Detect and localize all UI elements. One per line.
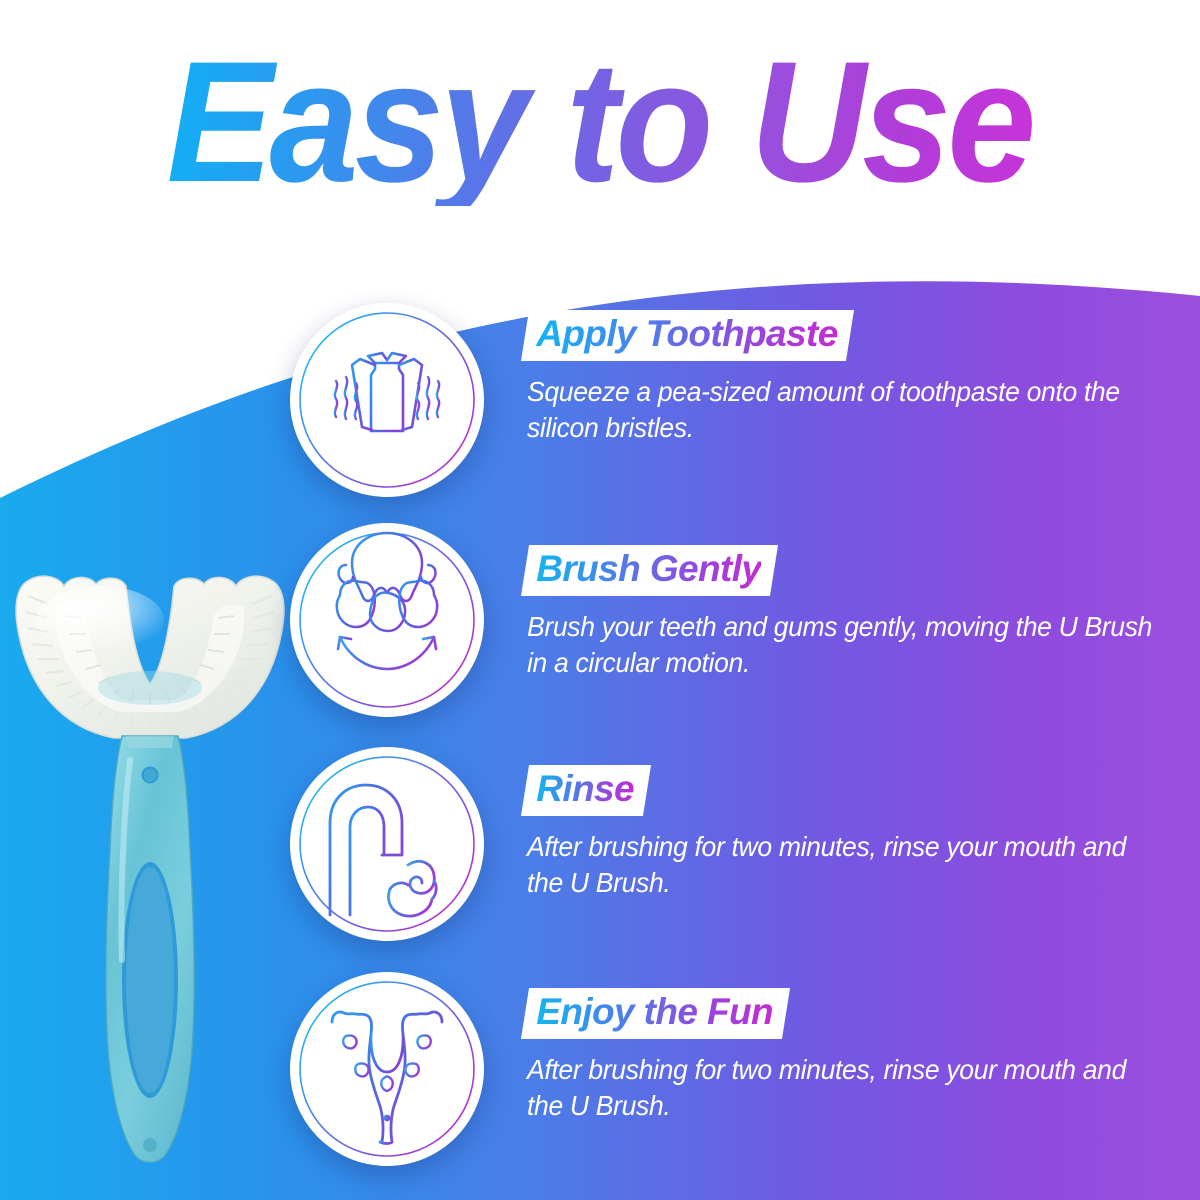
teeth-circular-motion-icon [290, 523, 484, 717]
circle-ring [300, 313, 474, 487]
circle-ring [300, 982, 474, 1156]
product-image-u-brush [4, 560, 294, 1170]
toothpaste-tube-icon [290, 303, 484, 497]
step-2-heading: Brush Gently [536, 548, 761, 590]
step-4-heading-box: Enjoy the Fun [521, 988, 790, 1039]
step-3-text: Rinse After brushing for two minutes, ri… [527, 765, 1187, 902]
step-1-text: Apply Toothpaste Squeeze a pea-sized amo… [527, 310, 1187, 447]
step-3-icon-circle[interactable] [290, 747, 484, 941]
circle-ring [300, 533, 474, 707]
step-2-icon-circle[interactable] [290, 523, 484, 717]
step-1-icon-circle[interactable] [290, 303, 484, 497]
step-2-text: Brush Gently Brush your teeth and gums g… [527, 545, 1187, 682]
step-3-body: After brushing for two minutes, rinse yo… [527, 829, 1164, 902]
step-2-heading-box: Brush Gently [521, 545, 778, 596]
step-4-icon-circle[interactable] [290, 972, 484, 1166]
handle-bottom-dimple [143, 1138, 157, 1152]
infographic-canvas: Easy to Use [0, 0, 1200, 1200]
step-2-body: Brush your teeth and gums gently, moving… [527, 609, 1164, 682]
circle-ring [300, 757, 474, 931]
step-1-heading-box: Apply Toothpaste [521, 310, 855, 361]
motion-arrow [338, 637, 436, 669]
silicone-pad [98, 671, 202, 705]
u-brush-icon [290, 972, 484, 1166]
handle-neck [126, 736, 174, 748]
head-highlight [36, 586, 164, 654]
step-4-heading: Enjoy the Fun [536, 991, 773, 1033]
step-4-body: After brushing for two minutes, rinse yo… [527, 1052, 1164, 1125]
step-3-heading: Rinse [536, 768, 634, 810]
step-3-heading-box: Rinse [521, 765, 651, 816]
handle-hole-dot [384, 1115, 391, 1122]
step-4-text: Enjoy the Fun After brushing for two min… [527, 988, 1187, 1125]
faucet-rinse-icon [290, 747, 484, 941]
water-drops [380, 861, 396, 887]
bristle-clusters [343, 1035, 431, 1091]
step-1-heading: Apply Toothpaste [536, 313, 837, 355]
step-1-body: Squeeze a pea-sized amount of toothpaste… [527, 374, 1164, 447]
